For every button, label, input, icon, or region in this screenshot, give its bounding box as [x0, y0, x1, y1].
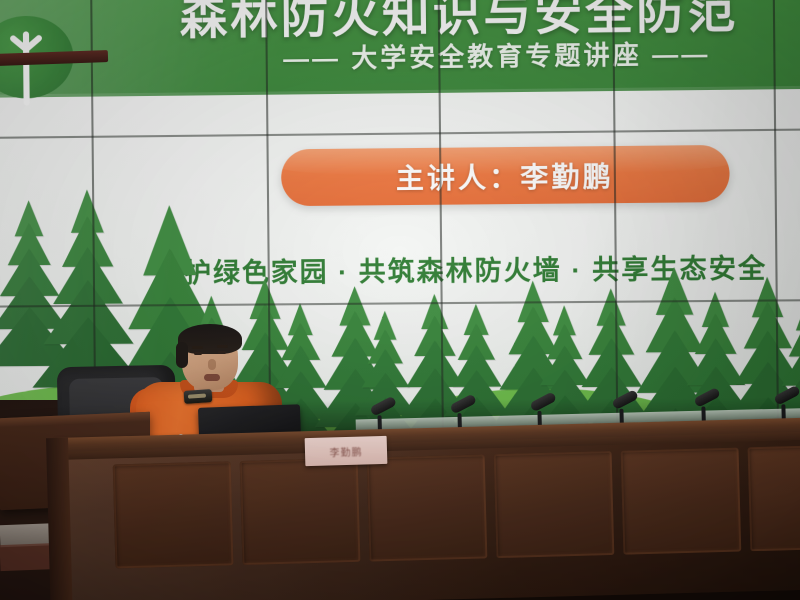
- presenter-nameplate: 李勤鹏: [305, 436, 388, 466]
- speaker-name-pill: 主讲人：李勤鹏: [281, 145, 730, 206]
- presenter-mouth: [204, 374, 220, 381]
- desk-panel: [621, 448, 742, 555]
- nameplate-text: 李勤鹏: [305, 436, 388, 466]
- speaker-name-text: 主讲人：李勤鹏: [281, 145, 730, 206]
- presenter-eyebrow: [192, 346, 203, 349]
- presenter-eyebrow: [217, 345, 228, 348]
- presenter-eye: [218, 351, 226, 354]
- desk-panel: [748, 444, 800, 551]
- screenshot-root: 森林防火知识与安全防范 —— 大学安全教育专题讲座 —— 主讲人：李勤鹏 守护绿…: [0, 0, 800, 600]
- desk-panel: [494, 451, 615, 558]
- slide-title-sub: —— 大学安全教育专题讲座 ——: [283, 32, 800, 76]
- desk-panel: [367, 454, 488, 561]
- podium-desk: [56, 417, 800, 600]
- desk-panel: [240, 458, 361, 565]
- desk-left-end: [46, 438, 73, 600]
- uniform-badge-icon: [184, 389, 213, 404]
- desk-panel: [113, 461, 234, 568]
- presenter-hair-side: [176, 342, 188, 368]
- presenter-eye: [194, 352, 202, 355]
- presenter-nose: [208, 359, 216, 370]
